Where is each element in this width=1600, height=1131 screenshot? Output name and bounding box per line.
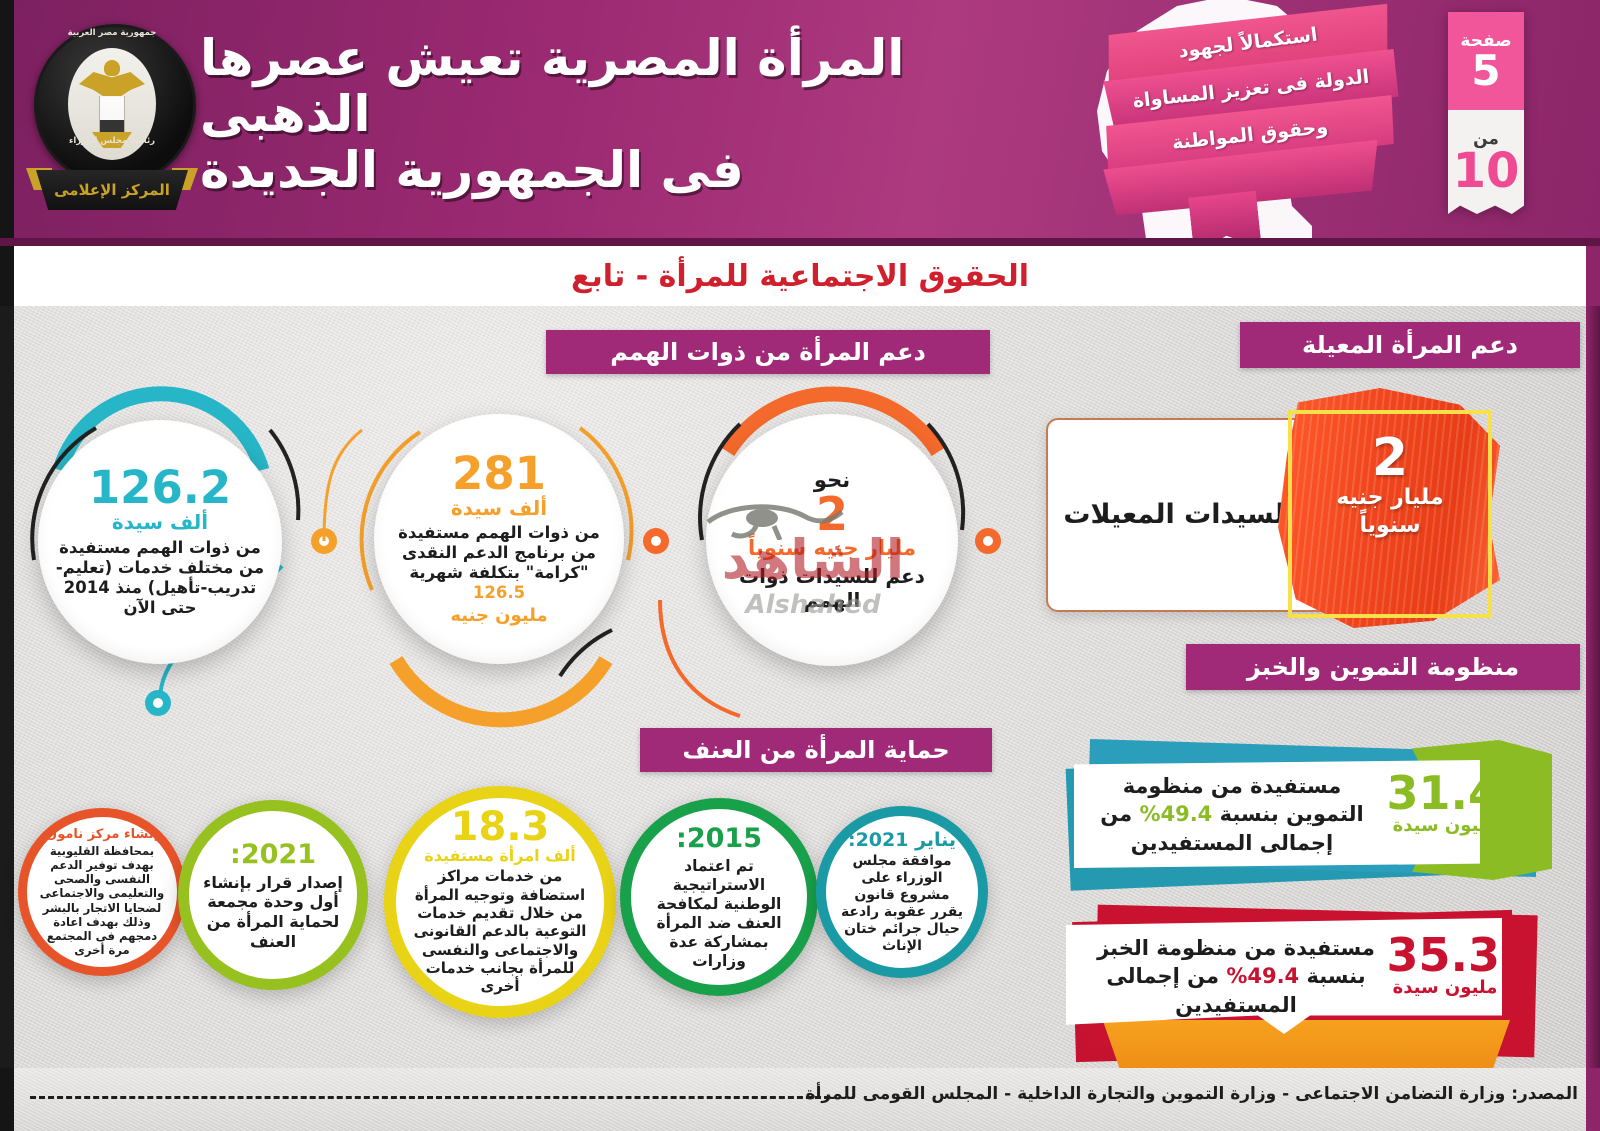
page-title: المرأة المصرية تعيش عصرها الذهبى فى الجم… <box>200 30 1080 198</box>
jan2021-body: موافقة مجلس الوزراء على مشروع قانون يقرر… <box>838 853 966 955</box>
supply-percent: 49.4% <box>1139 802 1212 826</box>
namoul-body: بمحافظة القليوبية بهدف توفير الدعم النفس… <box>39 844 165 957</box>
stat-circle-2-billion: نحو 2 مليار جنيه سنوياً دعم للسيدات ذوات… <box>706 414 958 666</box>
right-edge-strip <box>1586 306 1600 1068</box>
bread-value: 35.3 <box>1390 934 1500 976</box>
header-left-black-strip <box>0 0 14 238</box>
logo-ribbon-text: المركز الإعلامى <box>54 181 170 199</box>
header-bar: جمهورية مصر العربية رئاسة مجلس الوزراء ا… <box>0 0 1600 238</box>
page-title-line-2: فى الجمهورية الجديدة <box>200 142 1080 198</box>
section-band-title: الحقوق الاجتماعية للمرأة - تابع <box>0 246 1600 306</box>
stat-unit-281: ألف سيدة <box>451 496 547 520</box>
paint-unit-line-2: سنوياً <box>1300 513 1480 538</box>
bread-orange-tab <box>1090 1020 1510 1068</box>
v183-value: 18.3 <box>451 808 550 846</box>
page-title-line-1: المرأة المصرية تعيش عصرها الذهبى <box>200 30 1080 142</box>
page-number: 5 <box>1471 51 1500 91</box>
stat-body-281-text: من ذوات الهمم مستفيدة من برنامج الدعم ال… <box>398 523 600 582</box>
page-counter-bottom: من 10 <box>1448 110 1524 214</box>
stat-value-126: 126.2 <box>89 466 231 509</box>
chip-disabled-support: دعم المرأة من ذوات الهمم <box>546 330 990 374</box>
supply-value: 31.4 <box>1390 772 1500 814</box>
bread-unit: مليون سيدة <box>1390 977 1500 998</box>
stat-unit-126: ألف سيدة <box>112 510 208 534</box>
jan2021-title: يناير 2021: <box>848 829 956 851</box>
footer-right-strip <box>1586 1068 1600 1131</box>
bread-percent: 49.4% <box>1226 964 1299 988</box>
stat-circle-281: 281 ألف سيدة من ذوات الهمم مستفيدة من بر… <box>374 414 624 664</box>
left-edge-strip <box>0 306 14 1068</box>
v183-body: من خدمات مراكز استضافة وتوجيه المرأة من … <box>408 867 592 995</box>
v2021-body: إصدار قرار بإنشاء أول وحدة مجمعة لحماية … <box>201 873 345 951</box>
v2015-body: تم اعتماد الاستراتيجية الوطنية لمكافحة ا… <box>643 857 795 970</box>
stat-circle-126: 126.2 ألف سيدة من ذوات الهمم مستفيدة من … <box>38 420 282 664</box>
chip-breadwinner-support: دعم المرأة المعيلة <box>1240 322 1580 368</box>
violence-circle-2021: 2021: إصدار قرار بإنشاء أول وحدة مجمعة ل… <box>178 800 368 990</box>
v183-unit: ألف امرأة مستفيدة <box>424 846 575 865</box>
paint-value: 2 <box>1300 434 1480 483</box>
v2021-title: 2021: <box>230 839 316 870</box>
footer-left-strip <box>0 1068 14 1131</box>
page-total: 10 <box>1453 149 1520 195</box>
logo-mid-text: رئاسة مجلس الوزراء <box>22 136 202 146</box>
chip-supply-bread-system: منظومة التموين والخبز <box>1186 644 1580 690</box>
header-ribbon-banner: استكمالاً لجهود الدولة فى تعزيز المساواة… <box>1105 8 1405 230</box>
violence-circle-jan-2021: يناير 2021: موافقة مجلس الوزراء على مشرو… <box>816 806 988 978</box>
header-bottom-line <box>0 238 1600 246</box>
violence-circle-namoul: إنشاء مركز نامول بمحافظة القليوبية بهدف … <box>18 808 186 976</box>
footer-dashed-line <box>30 1096 830 1099</box>
stat-body-2b: دعم للسيدات ذوات الهمم <box>716 564 948 613</box>
page-counter-top: صفحة 5 <box>1448 12 1524 110</box>
banner-supply-system: مستفيدة من منظومة التموين بنسبة 49.4% من… <box>1060 730 1580 890</box>
v2015-title: 2015: <box>676 823 762 854</box>
stat-value-2b: 2 <box>816 492 848 536</box>
banner-bread-system: مستفيدة من منظومة الخبز بنسبة 49.4% من إ… <box>1060 900 1580 1072</box>
stat-body-126: من ذوات الهمم مستفيدة من مختلف خدمات (تع… <box>48 538 272 619</box>
government-logo: جمهورية مصر العربية رئاسة مجلس الوزراء ا… <box>22 18 202 218</box>
paint-unit-line-1: مليار جنيه <box>1300 485 1480 510</box>
band-left-strip <box>0 246 14 306</box>
paint-stroke-text: 2 مليار جنيه سنوياً <box>1300 434 1480 538</box>
logo-ribbon: المركز الإعلامى <box>36 170 188 210</box>
stat-tail-281: مليون جنيه <box>450 605 547 626</box>
stat-body-281-highlight: 126.5 <box>473 583 525 602</box>
source-text: المصدر: وزارة التضامن الاجتماعى - وزارة … <box>806 1084 1578 1104</box>
namoul-title: إنشاء مركز نامول <box>46 827 158 842</box>
band-right-strip <box>1586 246 1600 306</box>
infographic-page: جمهورية مصر العربية رئاسة مجلس الوزراء ا… <box>0 0 1600 1131</box>
violence-circle-2015: 2015: تم اعتماد الاستراتيجية الوطنية لمك… <box>620 798 818 996</box>
violence-circle-183: 18.3 ألف امرأة مستفيدة من خدمات مراكز اس… <box>384 786 616 1018</box>
stat-value-281: 281 <box>452 452 546 495</box>
bread-text: مستفيدة من منظومة الخبز بنسبة 49.4% من إ… <box>1086 934 1386 1019</box>
stat-unit-2b: مليار جنيه سنوياً <box>748 536 916 560</box>
supply-text: مستفيدة من منظومة التموين بنسبة 49.4% من… <box>1082 772 1382 857</box>
supply-unit: مليون سيدة <box>1390 815 1500 836</box>
supply-number-block: 31.4 مليون سيدة <box>1390 772 1500 836</box>
chip-violence-protection: حماية المرأة من العنف <box>640 728 992 772</box>
stat-body-281: من ذوات الهمم مستفيدة من برنامج الدعم ال… <box>384 523 614 604</box>
page-counter: صفحة 5 من 10 <box>1448 12 1524 214</box>
logo-top-text: جمهورية مصر العربية <box>22 28 202 38</box>
bread-number-block: 35.3 مليون سيدة <box>1390 934 1500 998</box>
